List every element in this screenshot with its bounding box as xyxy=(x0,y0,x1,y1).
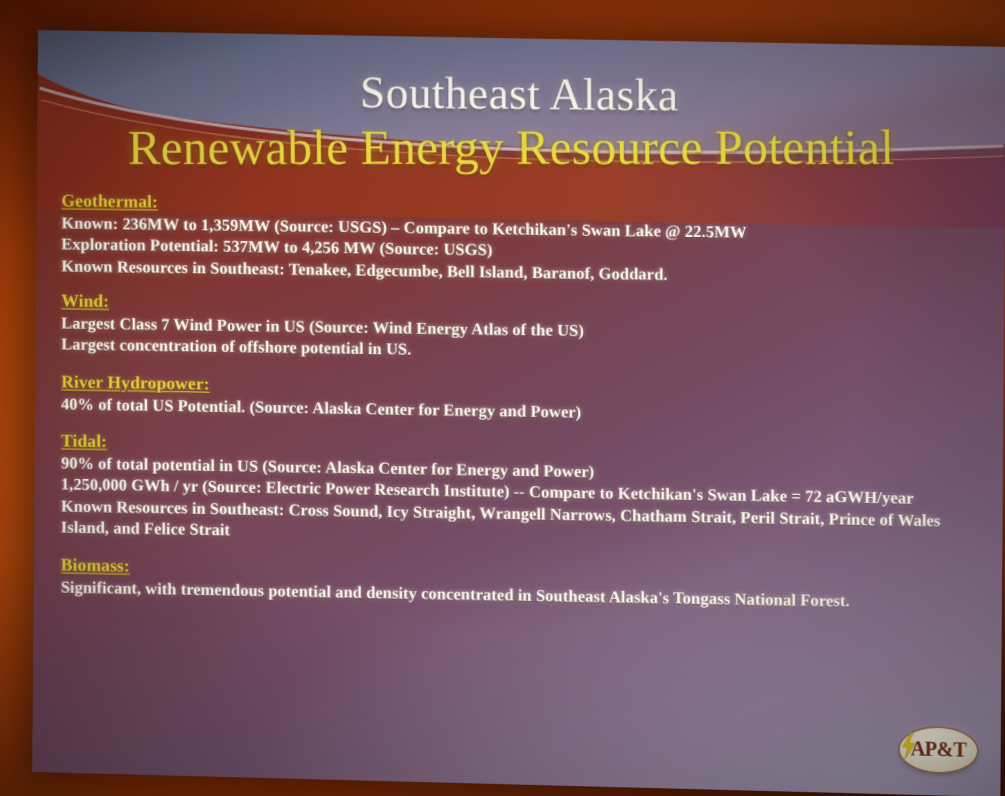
page-title: Southeast Alaska xyxy=(38,66,1005,123)
logo-text: AP&T xyxy=(910,738,966,763)
slide-canvas: Southeast Alaska Renewable Energy Resour… xyxy=(32,30,1005,796)
section-tidal: Tidal: 90% of total potential in US (Sou… xyxy=(61,430,989,553)
slide-body: Geothermal: Known: 236MW to 1,359MW (Sou… xyxy=(61,190,990,626)
page-subtitle: Renewable Energy Resource Potential xyxy=(47,121,977,173)
section-wind: Wind: Largest Class 7 Wind Power in US (… xyxy=(61,290,989,369)
section-river-hydropower: River Hydropower: 40% of total US Potent… xyxy=(61,371,989,429)
aptl-logo: AP&T xyxy=(898,726,978,774)
lightning-bolt-icon xyxy=(901,733,917,760)
projector-photo: Southeast Alaska Renewable Energy Resour… xyxy=(0,0,1005,796)
projected-slide: Southeast Alaska Renewable Energy Resour… xyxy=(32,30,1005,796)
section-biomass: Biomass: Significant, with tremendous po… xyxy=(61,555,989,615)
section-geothermal: Geothermal: Known: 236MW to 1,359MW (Sou… xyxy=(61,190,989,289)
